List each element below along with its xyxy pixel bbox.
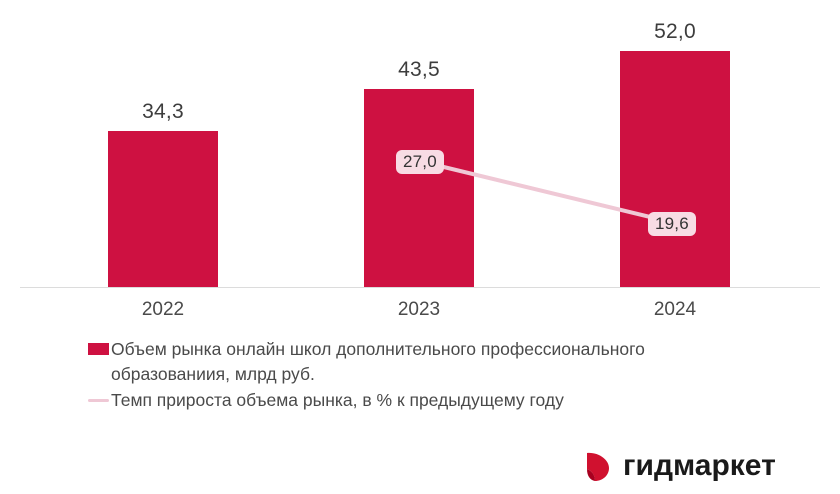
- line-value-2024: 19,6: [648, 212, 696, 236]
- legend-item-label: Объем рынка онлайн школ дополнительного …: [111, 337, 766, 387]
- category-label-2023: 2023: [339, 299, 499, 321]
- plot-area: 34,3 43,5 52,0 27,0 19,6: [0, 0, 840, 290]
- legend-item-growth-rate[interactable]: Темп прироста объема рынка, в % к предыд…: [88, 388, 778, 413]
- legend-item-label: Темп прироста объема рынка, в % к предыд…: [111, 388, 564, 413]
- category-label-2024: 2024: [595, 299, 755, 321]
- chart-legend: Объем рынка онлайн школ дополнительного …: [88, 337, 778, 413]
- legend-line-swatch-icon: [88, 399, 109, 402]
- brand-logo: гидмаркет: [583, 449, 776, 483]
- gidmarket-leaf-icon: [583, 449, 613, 483]
- category-label-2022: 2022: [83, 299, 243, 321]
- growth-rate-line: [0, 0, 840, 290]
- line-value-2023: 27,0: [396, 150, 444, 174]
- category-axis-line: [20, 287, 820, 288]
- brand-name: гидмаркет: [623, 451, 776, 481]
- legend-bar-swatch-icon: [88, 343, 109, 355]
- chart-container: 34,3 43,5 52,0 27,0 19,6 2022 2023 2024 …: [0, 0, 840, 494]
- legend-item-market-volume[interactable]: Объем рынка онлайн школ дополнительного …: [88, 337, 778, 387]
